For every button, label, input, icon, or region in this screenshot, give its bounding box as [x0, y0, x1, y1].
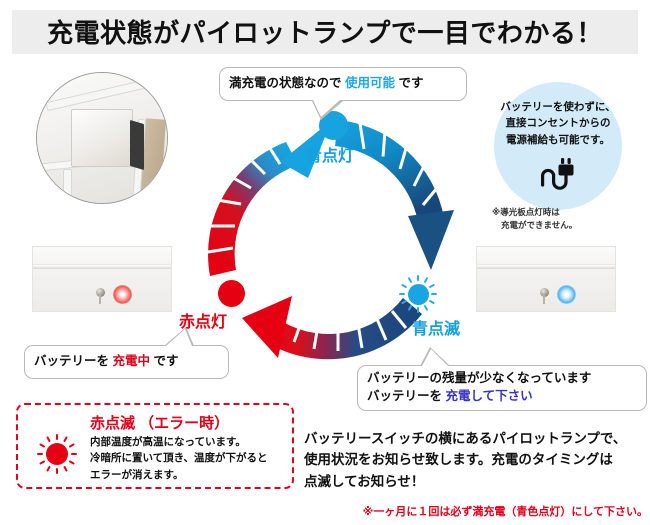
ac-power-line1: バッテリーを使わずに、: [494, 99, 622, 115]
error-panel-title: 赤点滅 （エラー時）: [90, 412, 229, 433]
bubble-charging-post: です: [150, 354, 178, 368]
footer-paragraph: バッテリースイッチの横にあるパイロットランプで、 使用状況をお知らせ致します。充…: [304, 428, 646, 492]
page-title: 充電状態がパイロットランプで一目でわかる！: [12, 8, 638, 54]
bubble-charging-highlight: 充電中: [112, 354, 150, 368]
infographic-root: 充電状態がパイロットランプで一目でわかる！: [0, 0, 650, 525]
bubble-tail-inner: [422, 349, 448, 366]
red-blinking-lamp-icon: [36, 433, 78, 475]
bubble-low-battery: バッテリーの残量が少なくなっています バッテリーを 充電して下さい: [357, 365, 647, 411]
ac-power-note: ※導光板点灯時は 充電ができません。: [492, 206, 632, 232]
bubble-full-charge-post: です: [395, 76, 423, 90]
blue-lamp-glow: [557, 285, 576, 304]
ac-power-note-line1: ※導光板点灯時は: [492, 206, 632, 219]
ac-power-line3: 電源補給も可能です。: [494, 132, 622, 148]
red-lamp-glow: [113, 285, 132, 304]
cabinet-blue-lamp-photo: [470, 240, 622, 318]
bubble-tail-inner: [166, 329, 192, 346]
solid-circle-icon-red: [218, 280, 245, 307]
cycle-label-blue-solid: 青点灯: [306, 142, 354, 166]
cabinet-red-lamp-photo: [26, 240, 178, 318]
arc-navy-to-red: [242, 296, 422, 359]
footer-note: ※一ヶ月に１回は必ず満充電（青色点灯）にして下さい。: [308, 503, 648, 519]
blinking-circle-icon-blue: [399, 275, 437, 313]
ac-power-note-line2: 充電ができません。: [492, 219, 632, 232]
ac-power-line2: 直接コンセントからの: [494, 115, 622, 131]
power-plug-icon: [540, 158, 576, 197]
footer-line2: 使用状況をお知らせ致します。充電のタイミングは: [304, 449, 646, 470]
bubble-full-charge-highlight: 使用可能: [345, 76, 395, 90]
bubble-full-charge: 満充電の状態なので 使用可能 です: [219, 67, 467, 101]
error-panel-line3: エラーが消えます。: [90, 467, 286, 483]
footer-line1: バッテリースイッチの横にあるパイロットランプで、: [304, 428, 646, 449]
battery-unit-photo: [36, 72, 168, 204]
bubble-full-charge-pre: 満充電の状態なので: [229, 76, 345, 90]
bubble-low-battery-line2-highlight: 充電して下さい: [445, 389, 532, 403]
error-panel-line1: 内部温度が高温になっています。: [90, 434, 286, 450]
bubble-low-battery-line1: バッテリーの残量が少なくなっています: [367, 370, 637, 388]
bubble-low-battery-line2-pre: バッテリーを: [367, 389, 445, 403]
cycle-label-blue-blink: 青点滅: [412, 315, 460, 339]
footer-line3: 点滅してお知らせ！: [304, 471, 646, 492]
error-state-panel: 赤点滅 （エラー時） 内部温度が高温になっています。 冷暗所に置いて頂き、温度が…: [16, 403, 294, 489]
bubble-charging-pre: バッテリーを: [34, 354, 112, 368]
ac-power-callout: バッテリーを使わずに、 直接コンセントからの 電源補給も可能です。: [494, 82, 622, 210]
bubble-charging: バッテリーを 充電中 です: [24, 345, 229, 379]
error-panel-line2: 冷暗所に置いて頂き、温度が下がると: [90, 450, 286, 466]
bubble-tail-inner: [313, 100, 340, 117]
